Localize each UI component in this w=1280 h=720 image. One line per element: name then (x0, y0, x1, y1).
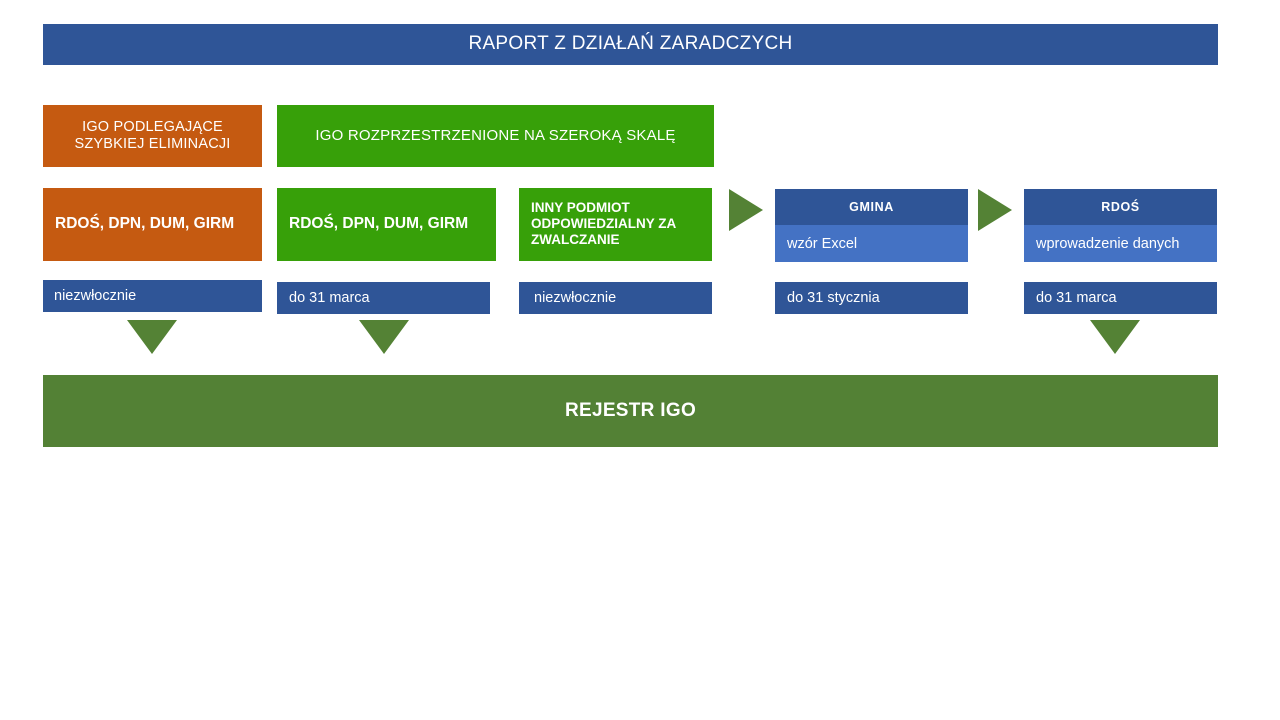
registry-banner: REJESTR IGO (43, 375, 1218, 447)
deadline-box-4: do 31 stycznia (775, 282, 968, 314)
actor-box-rdos-green: RDOŚ, DPN, DUM, GIRM (277, 188, 496, 261)
deadline-box-5: do 31 marca (1024, 282, 1217, 314)
entity-detail-gmina: wzór Excel (775, 225, 968, 262)
actor-box-rdos-orange: RDOŚ, DPN, DUM, GIRM (43, 188, 262, 261)
entity-title-rdos: RDOŚ (1024, 189, 1217, 225)
arrow-right-icon (729, 189, 763, 231)
arrow-right-icon (978, 189, 1012, 231)
category-box-widespread: IGO ROZPRZESTRZENIONE NA SZEROKĄ SKALĘ (277, 105, 714, 167)
arrow-down-icon (359, 320, 409, 354)
actor-label-rdos-orange: RDOŚ, DPN, DUM, GIRM (55, 215, 234, 233)
actor-label-rdos-green: RDOŚ, DPN, DUM, GIRM (289, 215, 468, 233)
entity-title-gmina: GMINA (775, 189, 968, 225)
category-box-rapid-elimination: IGO PODLEGAJĄCE SZYBKIEJ ELIMINACJI (43, 105, 262, 167)
category-label-rapid-elimination: IGO PODLEGAJĄCE SZYBKIEJ ELIMINACJI (74, 119, 230, 153)
actor-box-other-entity: INNY PODMIOT ODPOWIEDZIALNY ZA ZWALCZANI… (519, 188, 712, 261)
diagram-canvas: RAPORT Z DZIAŁAŃ ZARADCZYCH IGO PODLEGAJ… (0, 0, 1280, 720)
arrow-down-icon (127, 320, 177, 354)
deadline-box-3: niezwłocznie (519, 282, 712, 314)
entity-box-rdos: RDOŚ wprowadzenie danych (1024, 189, 1217, 262)
page-title: RAPORT Z DZIAŁAŃ ZARADCZYCH (43, 24, 1218, 65)
actor-label-other-entity: INNY PODMIOT ODPOWIEDZIALNY ZA ZWALCZANI… (531, 200, 704, 248)
entity-detail-rdos: wprowadzenie danych (1024, 225, 1217, 262)
entity-box-gmina: GMINA wzór Excel (775, 189, 968, 262)
category-label-widespread: IGO ROZPRZESTRZENIONE NA SZEROKĄ SKALĘ (315, 127, 675, 145)
deadline-box-1: niezwłocznie (43, 280, 262, 312)
arrow-down-icon (1090, 320, 1140, 354)
deadline-box-2: do 31 marca (277, 282, 490, 314)
